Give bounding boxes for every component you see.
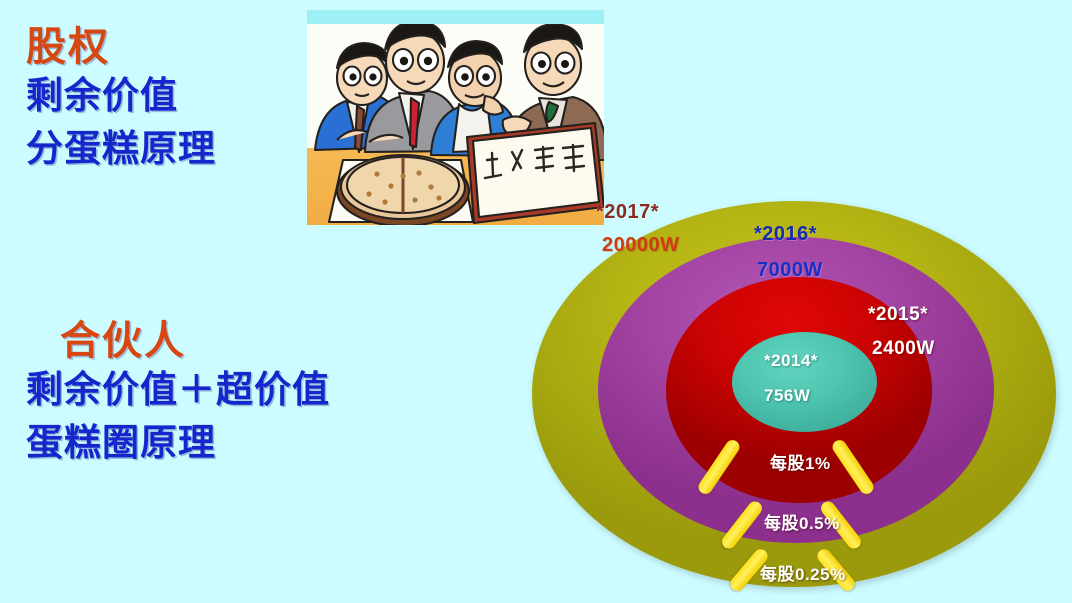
equity-line-1: 剩余价值 [26, 70, 216, 123]
ring-2014-year-label: *2014* [764, 351, 818, 371]
partner-text-block: 合伙人 剩余价值＋超价值 蛋糕圈原理 [26, 318, 330, 469]
share-label-1-percent: 每股1% [770, 449, 831, 474]
ring-2015-value-label: 2400W [872, 338, 935, 360]
partner-line-2: 蛋糕圈原理 [26, 417, 330, 470]
ring-2016-value-label: 7000W [757, 259, 823, 282]
equity-text-block: 股权 剩余价值 分蛋糕原理 [26, 24, 216, 175]
slide-canvas: 股权 剩余价值 分蛋糕原理 合伙人 剩余价值＋超价值 蛋糕圈原理 [0, 0, 1072, 603]
ring-2014-value-label: 756W [764, 386, 810, 406]
ring-2014-core [732, 332, 877, 432]
ring-2017-value-label: 20000W [602, 234, 680, 257]
equity-heading: 股权 [26, 24, 216, 70]
share-label-quarter-percent: 每股0.25% [760, 560, 846, 585]
ring-2015-year-label: *2015* [868, 304, 928, 326]
concentric-ellipse-diagram: *2017* 20000W *2016* 7000W *2015* 2400W … [524, 193, 1072, 603]
share-label-half-percent: 每股0.5% [764, 509, 840, 534]
equity-line-2: 分蛋糕原理 [26, 123, 216, 176]
ring-2016-year-label: *2016* [754, 223, 817, 246]
partner-line-1: 剩余价值＋超价值 [26, 364, 330, 417]
ring-2017-year-label: *2017* [596, 201, 659, 224]
partner-heading: 合伙人 [26, 318, 330, 364]
